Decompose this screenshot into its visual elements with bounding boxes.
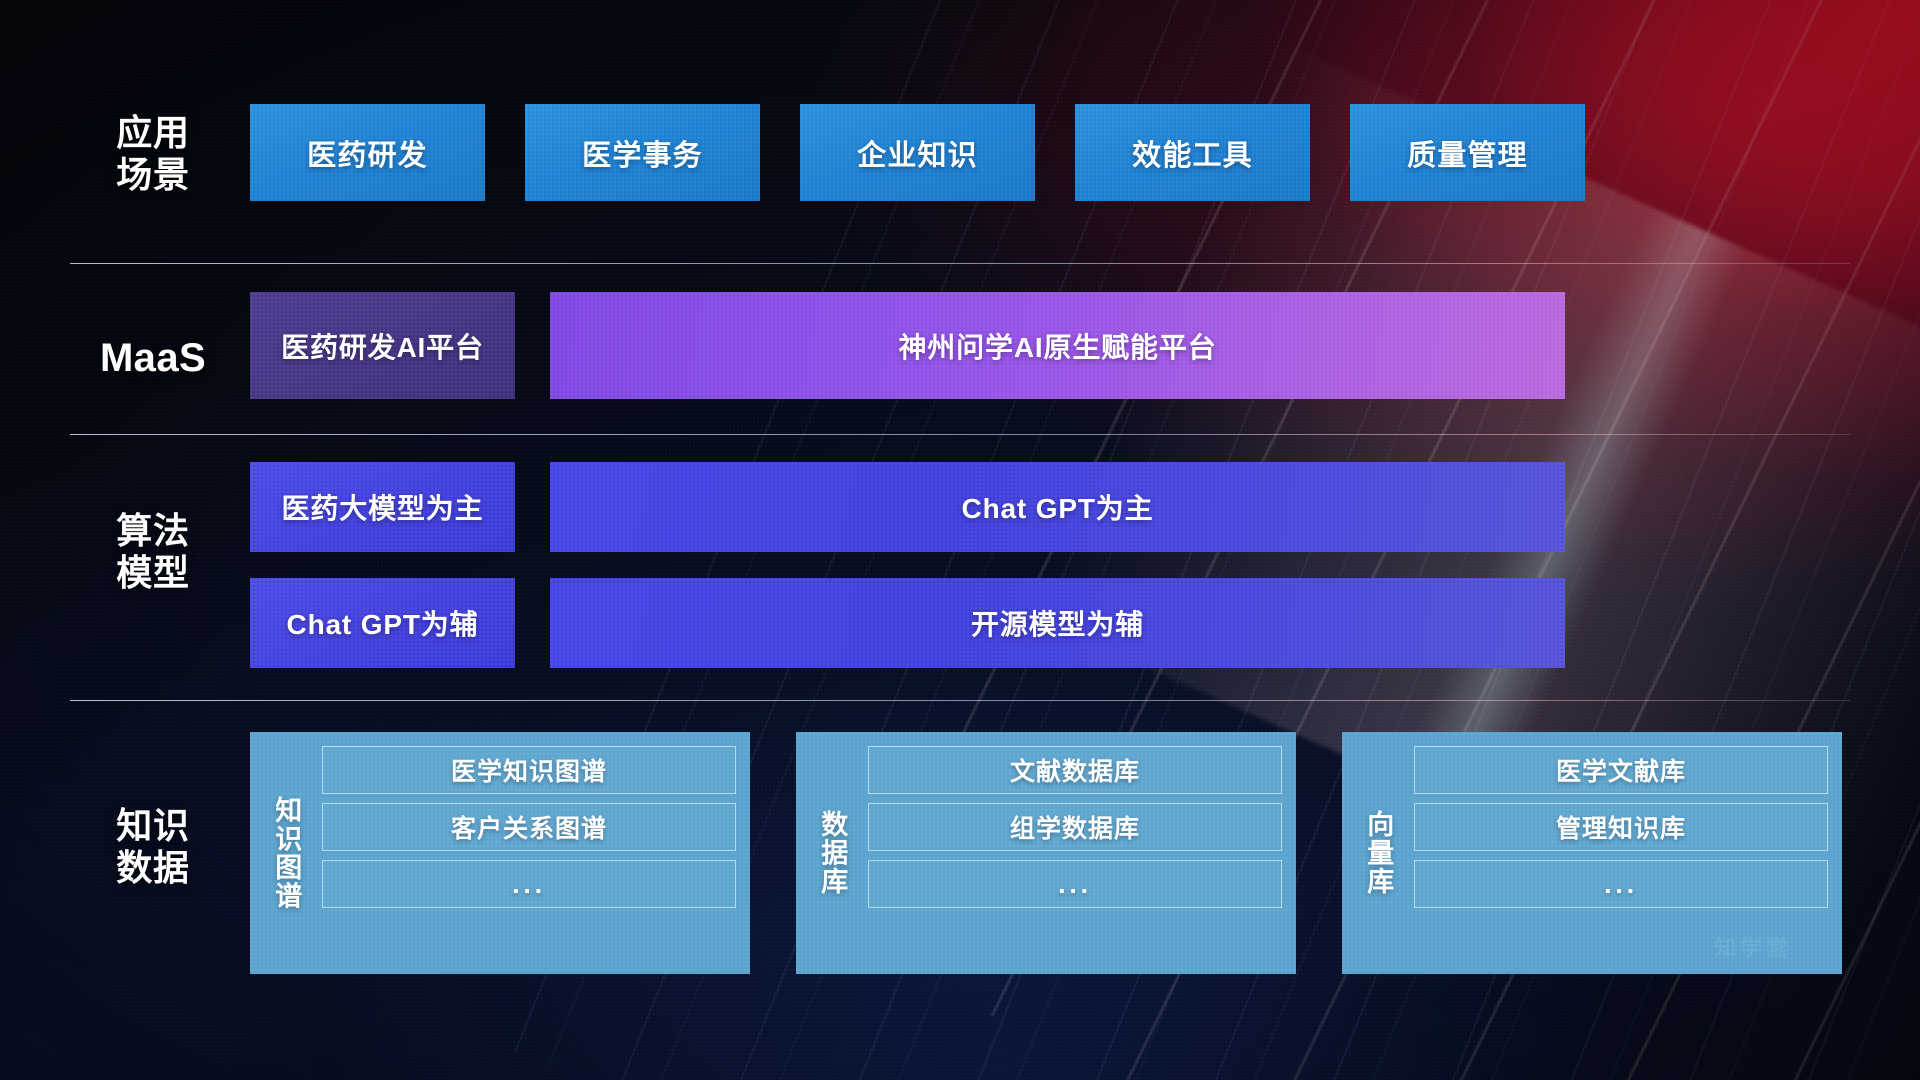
scenario-label-4: 质量管理 <box>1407 132 1528 174</box>
row-maas: 医药研发AI平台 神州问学AI原生赋能平台 <box>250 292 1565 399</box>
row-label-knowledge-data: 知识 数据 <box>78 805 228 890</box>
maas-label-0: 医药研发AI平台 <box>281 326 484 366</box>
separator-2 <box>70 434 1850 435</box>
separator-1 <box>70 263 1850 264</box>
knowledge-item-0-1[interactable]: 客户关系图谱 <box>322 803 736 851</box>
knowledge-item-list-1: 文献数据库 组学数据库 ... <box>868 746 1282 960</box>
algo-label-1: Chat GPT为主 <box>962 487 1154 527</box>
knowledge-item-1-1[interactable]: 组学数据库 <box>868 803 1282 851</box>
scenario-label-2: 企业知识 <box>857 132 978 174</box>
knowledge-item-2-0[interactable]: 医学文献库 <box>1414 746 1828 794</box>
knowledge-group-knowledge-graph[interactable]: 知识图谱 医学知识图谱 客户关系图谱 ... <box>250 732 750 974</box>
scenario-label-3: 效能工具 <box>1132 132 1253 174</box>
algo-box-chatgpt-secondary[interactable]: Chat GPT为辅 <box>250 578 515 668</box>
algo-box-pharma-model-primary[interactable]: 医药大模型为主 <box>250 462 515 552</box>
scenario-box-1[interactable]: 医学事务 <box>525 104 760 201</box>
knowledge-item-list-2: 医学文献库 管理知识库 ... <box>1414 746 1828 960</box>
knowledge-item-list-0: 医学知识图谱 客户关系图谱 ... <box>322 746 736 960</box>
row-knowledge-data: 知识图谱 医学知识图谱 客户关系图谱 ... 数据库 文献数据库 组学数据库 .… <box>250 732 1842 974</box>
scenario-label-1: 医学事务 <box>582 132 703 174</box>
knowledge-group-database[interactable]: 数据库 文献数据库 组学数据库 ... <box>796 732 1296 974</box>
row-label-maas: MaaS <box>78 335 228 382</box>
algo-label-3: 开源模型为辅 <box>971 603 1144 643</box>
maas-label-1: 神州问学AI原生赋能平台 <box>898 326 1216 366</box>
algo-label-2: Chat GPT为辅 <box>287 603 479 643</box>
row-application-scenarios: 医药研发 医学事务 企业知识 效能工具 质量管理 <box>250 104 1585 201</box>
algo-box-opensource-secondary[interactable]: 开源模型为辅 <box>550 578 1565 668</box>
scenario-label-0: 医药研发 <box>307 132 428 174</box>
algo-box-chatgpt-primary[interactable]: Chat GPT为主 <box>550 462 1565 552</box>
knowledge-group-vector-store[interactable]: 向量库 医学文献库 管理知识库 ... <box>1342 732 1842 974</box>
knowledge-group-label-2: 向量库 <box>1356 746 1400 960</box>
maas-box-shenzhou-platform[interactable]: 神州问学AI原生赋能平台 <box>550 292 1565 399</box>
scenario-box-4[interactable]: 质量管理 <box>1350 104 1585 201</box>
knowledge-item-1-2[interactable]: ... <box>868 860 1282 908</box>
architecture-diagram: 应用 场景 医药研发 医学事务 企业知识 效能工具 质量管理 MaaS <box>0 0 1920 1080</box>
row-label-algorithm-models: 算法 模型 <box>78 510 228 595</box>
algo-label-0: 医药大模型为主 <box>282 487 484 527</box>
scenario-box-0[interactable]: 医药研发 <box>250 104 485 201</box>
row-label-application-scenarios: 应用 场景 <box>78 112 228 197</box>
knowledge-item-2-1[interactable]: 管理知识库 <box>1414 803 1828 851</box>
maas-box-pharma-platform[interactable]: 医药研发AI平台 <box>250 292 515 399</box>
knowledge-item-0-2[interactable]: ... <box>322 860 736 908</box>
knowledge-group-label-0: 知识图谱 <box>264 746 308 960</box>
row-algorithm-primary: 医药大模型为主 Chat GPT为主 <box>250 462 1565 552</box>
scenario-box-3[interactable]: 效能工具 <box>1075 104 1310 201</box>
separator-3 <box>70 700 1850 701</box>
knowledge-group-label-1: 数据库 <box>810 746 854 960</box>
row-algorithm-secondary: Chat GPT为辅 开源模型为辅 <box>250 578 1565 668</box>
knowledge-item-1-0[interactable]: 文献数据库 <box>868 746 1282 794</box>
knowledge-item-0-0[interactable]: 医学知识图谱 <box>322 746 736 794</box>
scenario-box-2[interactable]: 企业知识 <box>800 104 1035 201</box>
knowledge-item-2-2[interactable]: ... <box>1414 860 1828 908</box>
